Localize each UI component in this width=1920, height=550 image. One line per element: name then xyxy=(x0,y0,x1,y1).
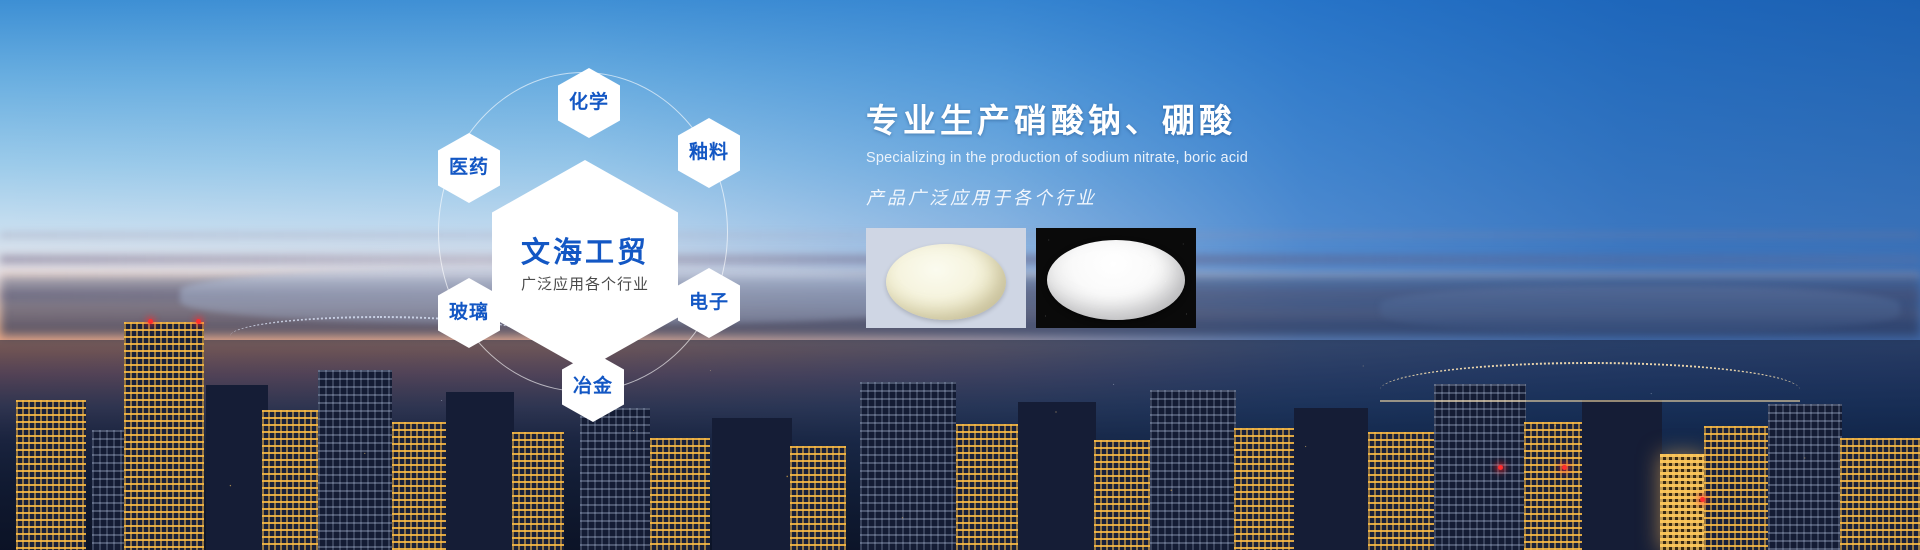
headline-chinese: 专业生产硝酸钠、硼酸 xyxy=(866,100,1426,141)
building xyxy=(512,432,564,550)
aviation-light xyxy=(1700,497,1705,502)
building-tower xyxy=(124,322,204,550)
building xyxy=(1294,408,1368,550)
building xyxy=(1234,428,1296,550)
bridge-right xyxy=(1380,362,1800,402)
bridge-deck xyxy=(1380,400,1800,402)
aviation-light xyxy=(148,319,153,324)
building xyxy=(1150,390,1236,550)
product-photo-group: cream colored powder on light background… xyxy=(866,228,1196,328)
building xyxy=(206,385,268,550)
aviation-light xyxy=(1562,465,1567,470)
building-wide xyxy=(860,382,956,550)
building xyxy=(650,438,710,550)
product-photo-boric-acid[interactable]: white crystalline powder on dark backgro… xyxy=(1036,228,1196,328)
headline-block: 专业生产硝酸钠、硼酸 Specializing in the productio… xyxy=(866,100,1426,210)
building xyxy=(1582,400,1662,550)
building xyxy=(790,446,846,550)
building xyxy=(1840,438,1920,550)
company-name: 文海工贸 xyxy=(521,236,649,270)
hex-node-label: 化学 xyxy=(569,92,609,114)
product-photo-sodium-nitrate[interactable]: cream colored powder on light background xyxy=(866,228,1026,328)
bridge-cable xyxy=(1380,362,1800,390)
building-wide xyxy=(1434,384,1526,550)
crystal-sparkle xyxy=(1036,228,1196,328)
building xyxy=(1094,440,1152,550)
hex-node-label: 玻璃 xyxy=(449,302,489,324)
building xyxy=(392,422,448,550)
industry-hex-diagram: 化学 医药 釉料 玻璃 电子 冶金 文海工贸 广泛应用各个行业 xyxy=(430,30,750,430)
company-tagline: 广泛应用各个行业 xyxy=(521,276,649,294)
building xyxy=(1368,432,1436,550)
river-right xyxy=(1380,286,1900,332)
building-illuminated xyxy=(1660,454,1706,550)
building xyxy=(262,410,320,550)
building xyxy=(1768,404,1842,550)
building xyxy=(956,424,1020,550)
aviation-light xyxy=(196,319,201,324)
promo-banner: 化学 医药 釉料 玻璃 电子 冶金 文海工贸 广泛应用各个行业 专业生产硝酸钠、… xyxy=(0,0,1920,550)
hex-node-label: 医药 xyxy=(449,157,489,179)
hex-node-label: 冶金 xyxy=(573,376,613,398)
aviation-light xyxy=(1498,465,1503,470)
powder-pile xyxy=(886,244,1006,320)
hex-node-label: 电子 xyxy=(689,292,729,314)
building xyxy=(318,370,392,550)
building xyxy=(1018,402,1096,550)
building xyxy=(16,400,86,550)
tagline-chinese: 产品广泛应用于各个行业 xyxy=(866,184,1426,210)
headline-english: Specializing in the production of sodium… xyxy=(866,150,1426,166)
powder-grain-texture xyxy=(886,244,1006,320)
building xyxy=(1524,422,1584,550)
building xyxy=(712,418,792,550)
building xyxy=(1704,426,1770,550)
hex-node-label: 釉料 xyxy=(689,142,729,164)
